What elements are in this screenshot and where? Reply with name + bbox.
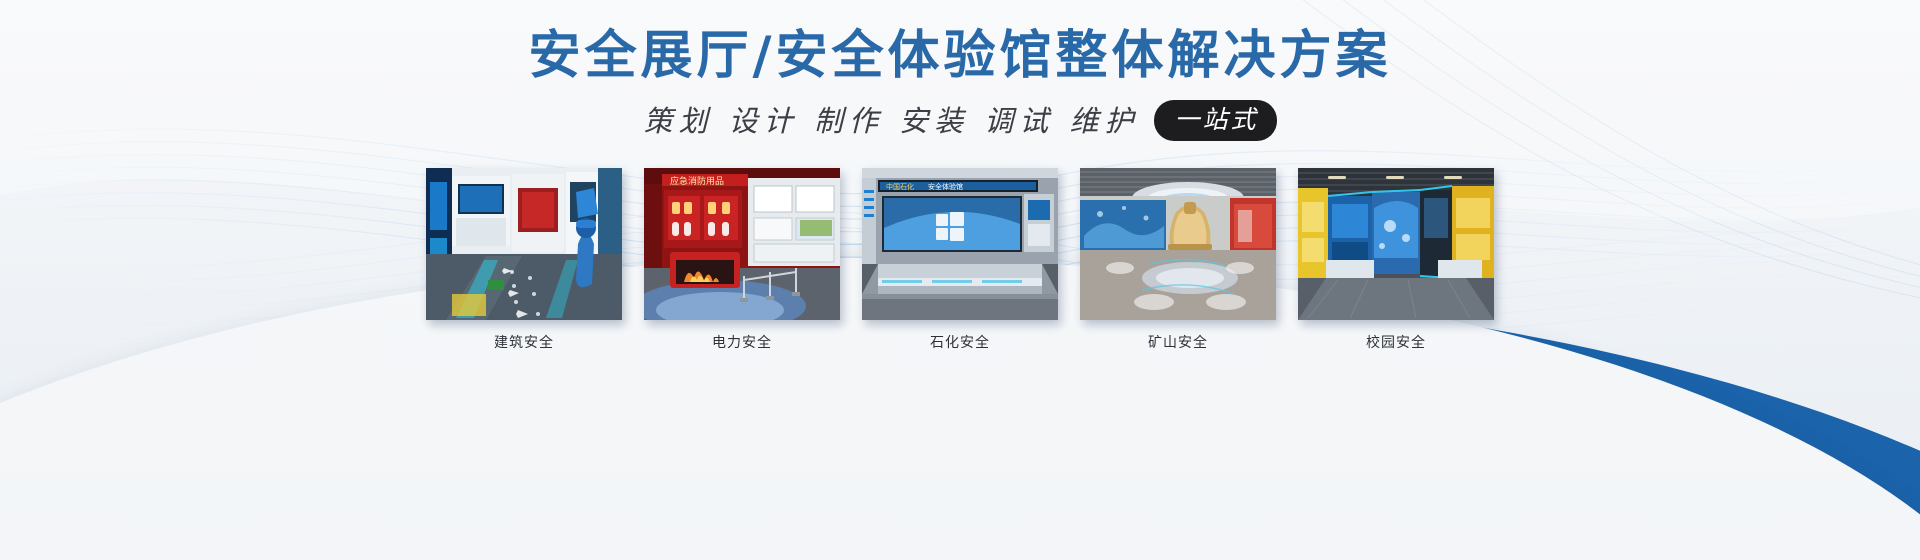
page-title: 安全展厅/安全体验馆整体解决方案 — [0, 26, 1920, 86]
campus-safety-thumbnail[interactable] — [1298, 168, 1494, 320]
card-caption: 建筑安全 — [494, 334, 554, 352]
exhibition-card-mining[interactable]: 矿山安全 — [1080, 168, 1276, 352]
mining-safety-image — [1080, 168, 1276, 320]
card-caption: 校园安全 — [1366, 334, 1426, 352]
svg-text:中国石化: 中国石化 — [886, 182, 914, 191]
campus-safety-image — [1298, 168, 1494, 320]
card-caption: 矿山安全 — [1148, 334, 1208, 352]
exhibition-card-petrochemical[interactable]: 中国石化 安全体验馆 — [862, 168, 1058, 352]
construction-safety-image — [426, 168, 622, 320]
card-caption: 电力安全 — [712, 334, 772, 352]
exhibition-card-list: 建筑安全 应急消防用品 — [0, 168, 1920, 352]
card-caption: 石化安全 — [930, 334, 990, 352]
svg-text:安全体验馆: 安全体验馆 — [928, 182, 963, 191]
petrochemical-safety-image: 中国石化 安全体验馆 — [862, 168, 1058, 320]
construction-safety-thumbnail[interactable] — [426, 168, 622, 320]
petrochemical-safety-thumbnail[interactable]: 中国石化 安全体验馆 — [862, 168, 1058, 320]
service-steps-row: 策划 设计 制作 安装 调试 维护 一站式 — [0, 100, 1920, 141]
exhibition-card-power[interactable]: 应急消防用品 — [644, 168, 840, 352]
svg-text:应急消防用品: 应急消防用品 — [670, 175, 724, 187]
safety-exhibition-banner: 安全展厅/安全体验馆整体解决方案 策划 设计 制作 安装 调试 维护 一站式 — [0, 0, 1920, 560]
one-stop-badge: 一站式 — [1154, 100, 1277, 141]
service-steps-label: 策划 设计 制作 安装 调试 维护 — [643, 101, 1139, 141]
mining-safety-thumbnail[interactable] — [1080, 168, 1276, 320]
exhibition-card-construction[interactable]: 建筑安全 — [426, 168, 622, 352]
power-safety-thumbnail[interactable]: 应急消防用品 — [644, 168, 840, 320]
exhibition-card-campus[interactable]: 校园安全 — [1298, 168, 1494, 352]
power-safety-image: 应急消防用品 — [644, 168, 840, 320]
